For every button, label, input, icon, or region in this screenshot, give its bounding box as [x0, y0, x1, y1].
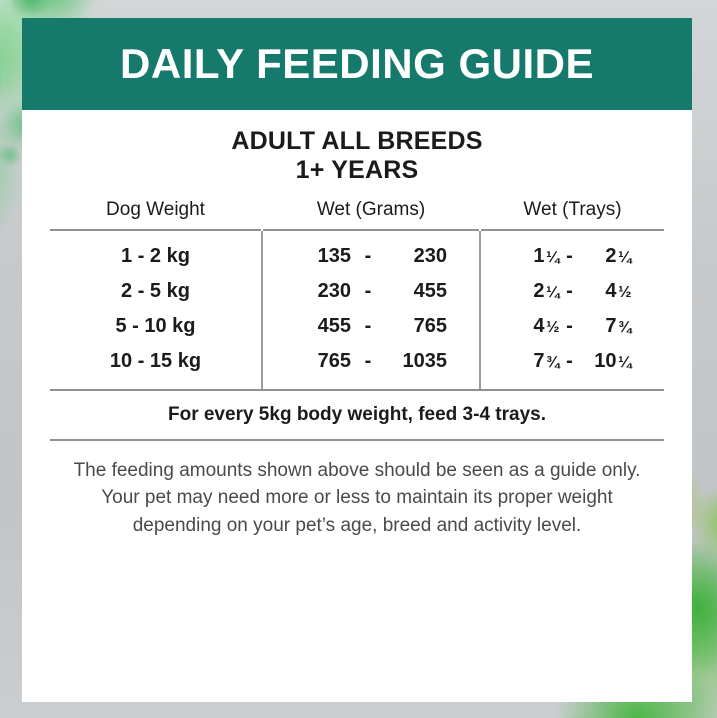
- table-row: 2 - 5 kg 230 - 455 2 ¼ -: [50, 274, 664, 309]
- cell-wet-trays: 2 ¼ - 4 ½: [480, 274, 664, 309]
- trays-low-whole: 1: [533, 245, 544, 267]
- trays-low-fraction: ¼: [546, 284, 559, 301]
- table-row: 10 - 15 kg 765 - 1035 7 ¾ -: [50, 344, 664, 389]
- cell-wet-grams: 230 - 455: [262, 274, 480, 309]
- card-body: ADULT ALL BREEDS 1+ YEARS Dog Weight Wet…: [22, 127, 692, 539]
- table-row: 5 - 10 kg 455 - 765 4 ½ -: [50, 309, 664, 344]
- trays-low-whole: 7: [533, 350, 544, 372]
- grams-low: 230: [295, 280, 351, 303]
- cell-wet-trays: 1 ¼ - 2 ¼: [480, 230, 664, 274]
- grams-low: 455: [295, 315, 351, 338]
- grams-high: 1035: [385, 350, 447, 373]
- trays-low-fraction: ¼: [546, 249, 559, 266]
- cell-wet-grams: 455 - 765: [262, 309, 480, 344]
- cell-dog-weight: 2 - 5 kg: [50, 274, 262, 309]
- cell-wet-grams: 765 - 1035: [262, 344, 480, 389]
- range-grams: 455 - 765: [263, 315, 479, 338]
- grams-low: 135: [295, 245, 351, 268]
- trays-high-whole: 7: [605, 315, 616, 337]
- feeding-guide-card: DAILY FEEDING GUIDE ADULT ALL BREEDS 1+ …: [22, 18, 692, 702]
- cell-dog-weight: 5 - 10 kg: [50, 309, 262, 344]
- range-dash: -: [351, 245, 385, 268]
- trays-high-fraction: ¾: [618, 319, 631, 336]
- trays-low-whole: 4: [533, 315, 544, 337]
- range-dash: -: [560, 350, 580, 373]
- trays-high-whole: 10: [594, 350, 616, 372]
- trays-high: 4 ½: [580, 280, 632, 303]
- range-grams: 135 - 230: [263, 245, 479, 268]
- table-header: Dog Weight Wet (Grams) Wet (Trays): [50, 197, 664, 230]
- grams-low: 765: [295, 350, 351, 373]
- cell-wet-trays: 7 ¾ - 10 ¼: [480, 344, 664, 389]
- range-dash: -: [560, 245, 580, 268]
- subtitle: ADULT ALL BREEDS 1+ YEARS: [50, 127, 664, 185]
- column-header-dog-weight: Dog Weight: [50, 197, 262, 230]
- trays-high-whole: 4: [605, 280, 616, 302]
- cell-dog-weight: 1 - 2 kg: [50, 230, 262, 274]
- trays-high-whole: 2: [605, 245, 616, 267]
- range-trays: 7 ¾ - 10 ¼: [481, 350, 664, 373]
- trays-high: 10 ¼: [580, 350, 632, 373]
- grams-high: 230: [385, 245, 447, 268]
- table-header-row: Dog Weight Wet (Grams) Wet (Trays): [50, 197, 664, 230]
- subtitle-line-1: ADULT ALL BREEDS: [231, 127, 482, 155]
- grams-high: 455: [385, 280, 447, 303]
- trays-high-fraction: ¼: [618, 249, 631, 266]
- trays-low: 1 ¼: [514, 245, 560, 268]
- trays-high-fraction: ½: [618, 284, 631, 301]
- feeding-note: For every 5kg body weight, feed 3-4 tray…: [50, 391, 664, 439]
- range-dash: -: [351, 350, 385, 373]
- subtitle-line-2: 1+ YEARS: [50, 156, 664, 185]
- cell-wet-trays: 4 ½ - 7 ¾: [480, 309, 664, 344]
- range-trays: 1 ¼ - 2 ¼: [481, 245, 664, 268]
- range-trays: 2 ¼ - 4 ½: [481, 280, 664, 303]
- range-trays: 4 ½ - 7 ¾: [481, 315, 664, 338]
- trays-low-fraction: ¾: [546, 354, 559, 371]
- range-dash: -: [351, 315, 385, 338]
- trays-low: 2 ¼: [514, 280, 560, 303]
- trays-low: 4 ½: [514, 315, 560, 338]
- feeding-table: Dog Weight Wet (Grams) Wet (Trays) 1 - 2…: [50, 197, 664, 389]
- column-header-wet-trays: Wet (Trays): [480, 197, 664, 230]
- grams-high: 765: [385, 315, 447, 338]
- range-dash: -: [560, 315, 580, 338]
- banner: DAILY FEEDING GUIDE: [22, 18, 692, 110]
- table-body: 1 - 2 kg 135 - 230 1 ¼ -: [50, 230, 664, 389]
- trays-low: 7 ¾: [514, 350, 560, 373]
- column-header-wet-grams: Wet (Grams): [262, 197, 480, 230]
- page-title: DAILY FEEDING GUIDE: [120, 43, 594, 85]
- trays-high: 2 ¼: [580, 245, 632, 268]
- range-grams: 230 - 455: [263, 280, 479, 303]
- table-row: 1 - 2 kg 135 - 230 1 ¼ -: [50, 230, 664, 274]
- cell-wet-grams: 135 - 230: [262, 230, 480, 274]
- trays-high-fraction: ¼: [618, 354, 631, 371]
- disclaimer-text: The feeding amounts shown above should b…: [50, 441, 664, 540]
- range-grams: 765 - 1035: [263, 350, 479, 373]
- feeding-guide-screenshot: DAILY FEEDING GUIDE ADULT ALL BREEDS 1+ …: [0, 0, 717, 718]
- cell-dog-weight: 10 - 15 kg: [50, 344, 262, 389]
- range-dash: -: [351, 280, 385, 303]
- range-dash: -: [560, 280, 580, 303]
- trays-high: 7 ¾: [580, 315, 632, 338]
- trays-low-fraction: ½: [546, 319, 559, 336]
- trays-low-whole: 2: [533, 280, 544, 302]
